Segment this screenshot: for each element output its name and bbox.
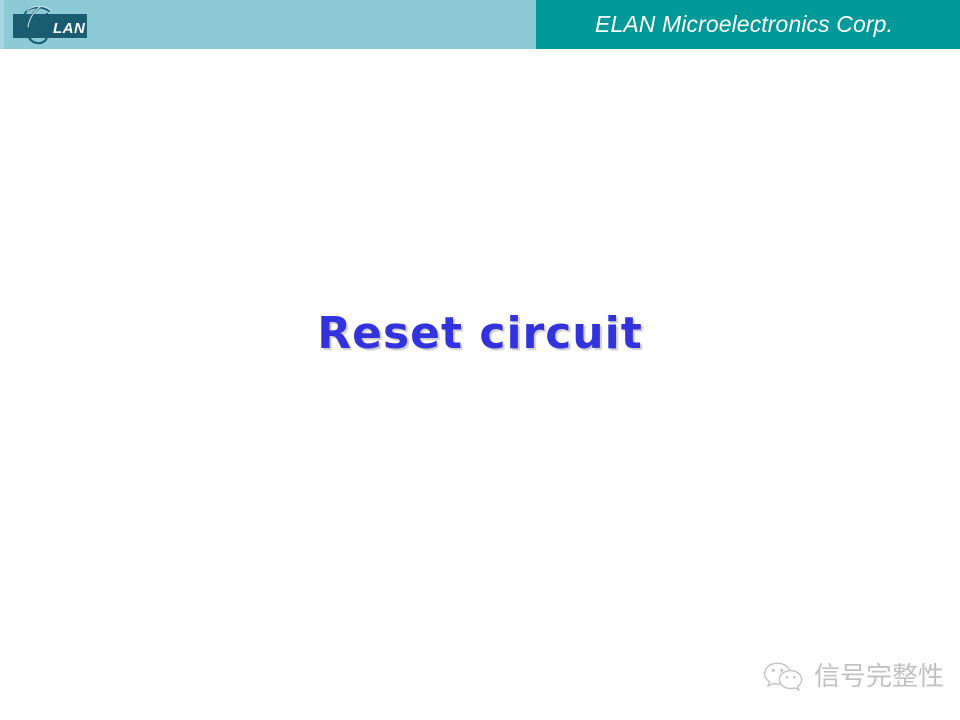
wechat-watermark: 信号完整性 <box>762 656 942 698</box>
elan-logo: LAN <box>9 2 95 48</box>
slide-body <box>0 49 960 720</box>
company-title: ELAN Microelectronics Corp. <box>536 0 960 49</box>
slide-header: LAN ELAN Microelectronics Corp. <box>0 0 960 49</box>
watermark-label: 信号完整性 <box>814 664 944 690</box>
slide-headline-wrapper: Reset circuit <box>0 311 960 357</box>
wechat-icon <box>762 659 806 695</box>
slide-root: LAN ELAN Microelectronics Corp. Reset ci… <box>0 0 960 720</box>
slide-headline: Reset circuit <box>317 311 643 357</box>
svg-text:LAN: LAN <box>53 20 86 37</box>
header-left-edge-accent <box>0 0 4 49</box>
